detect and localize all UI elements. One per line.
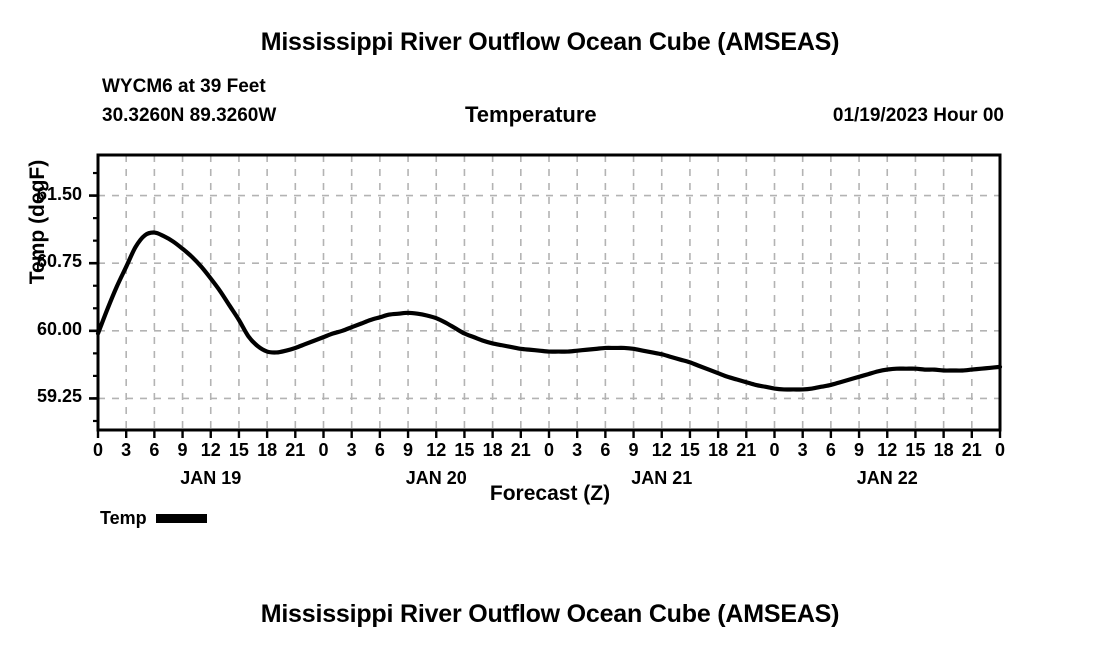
y-tick-label: 59.25 bbox=[2, 386, 82, 407]
page-title-bottom: Mississippi River Outflow Ocean Cube (AM… bbox=[0, 600, 1100, 629]
y-tick-label: 61.50 bbox=[2, 184, 82, 205]
x-tick-label: 0 bbox=[980, 440, 1020, 461]
y-axis-title: Temp (degF) bbox=[26, 132, 50, 312]
x-axis-title: Forecast (Z) bbox=[0, 482, 1100, 506]
chart-svg bbox=[0, 0, 1100, 650]
legend: Temp bbox=[100, 508, 207, 529]
gridlines bbox=[98, 155, 1000, 430]
y-tick-label: 60.00 bbox=[2, 319, 82, 340]
legend-swatch-temp bbox=[156, 514, 207, 523]
legend-label-temp: Temp bbox=[100, 508, 147, 529]
chart-page: Mississippi River Outflow Ocean Cube (AM… bbox=[0, 0, 1100, 650]
plot-area: Temp (degF) 61.5060.7560.0059.25 0369121… bbox=[0, 0, 1100, 650]
y-tick-label: 60.75 bbox=[2, 251, 82, 272]
